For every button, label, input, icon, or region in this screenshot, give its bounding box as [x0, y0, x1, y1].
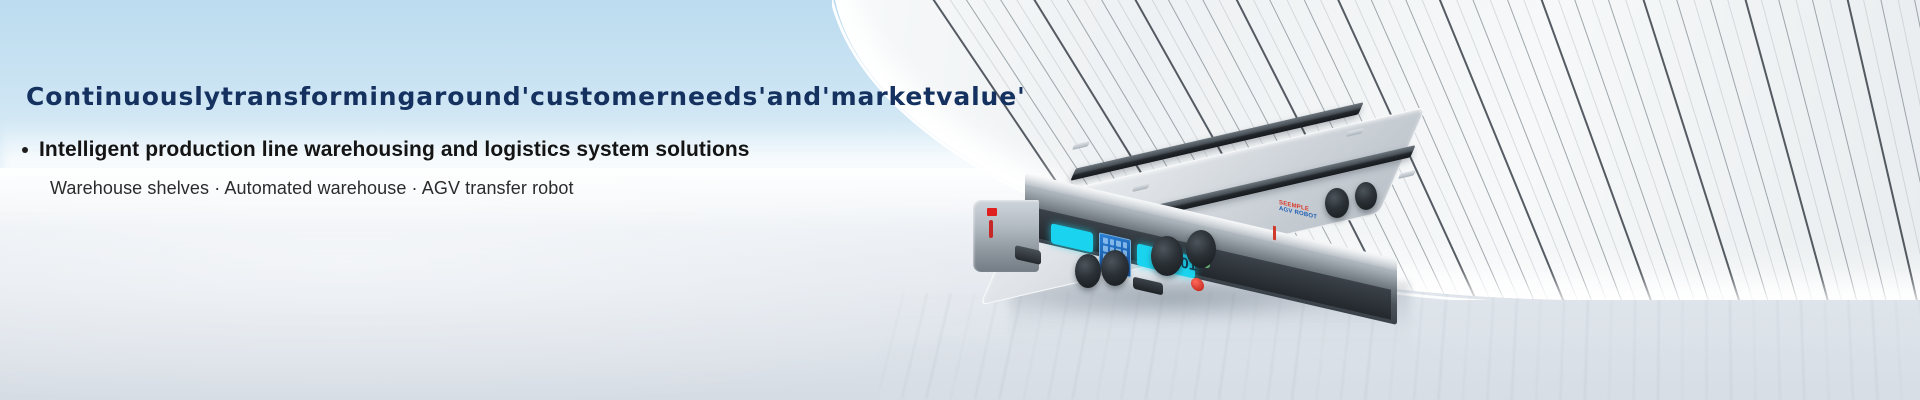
display-cell — [1123, 242, 1128, 249]
bullet-dot-icon — [22, 147, 28, 153]
agv-wheel — [1355, 182, 1377, 210]
agv-wheel — [1325, 188, 1349, 218]
agv-transfer-robot: 01 SEEMPLE AGV ROBOT — [955, 130, 1475, 315]
building-rib — [1684, 0, 1812, 300]
agv-red-strip-icon — [989, 220, 993, 238]
agv-load-bar-cap — [1072, 141, 1090, 150]
building-reflection-rib — [1609, 292, 1613, 400]
building-reflection-rib — [1871, 292, 1878, 400]
feature-bullet-text: Intelligent production line warehousing … — [39, 138, 750, 162]
banner-headline: Continuouslytransformingaround'customern… — [26, 82, 1026, 111]
agv-wheel — [1101, 250, 1129, 286]
building-reflection-rib — [1633, 292, 1636, 400]
agv-wheel — [1186, 230, 1216, 268]
display-cell — [1103, 245, 1108, 252]
display-cell — [1116, 240, 1121, 247]
building-reflection-rib — [1706, 292, 1708, 400]
building-rib — [1579, 0, 1725, 300]
building-reflection-rib — [1560, 292, 1565, 400]
building-rib — [1667, 0, 1798, 300]
banner-subtitle: Warehouse shelves · Automated warehouse … — [50, 178, 574, 199]
building-reflection-rib — [1729, 292, 1731, 400]
agv-red-tab-icon — [987, 208, 997, 216]
building-reflection-rib — [1777, 292, 1781, 400]
building-rib — [1649, 0, 1783, 300]
building-reflection-rib — [1895, 292, 1903, 400]
feature-bullet-row: Intelligent production line warehousing … — [22, 138, 750, 162]
building-reflection-rib — [1584, 292, 1588, 400]
building-reflection-rib — [1824, 292, 1829, 400]
agv-load-bar-cap — [1398, 170, 1416, 179]
building-reflection-rib — [1682, 292, 1683, 400]
building-reflection-rib — [1847, 292, 1853, 400]
display-cell — [1103, 237, 1108, 244]
display-cell — [1110, 239, 1115, 246]
building-rib — [1631, 0, 1768, 300]
agv-wheel — [1075, 254, 1101, 288]
building-rib — [1737, 0, 1856, 300]
building-reflection-rib — [1753, 292, 1756, 400]
building-reflection-rib — [1511, 292, 1518, 400]
agv-mid-bumper — [1133, 277, 1163, 296]
agv-wheel — [1151, 236, 1183, 276]
building-reflection-rib — [1535, 292, 1541, 400]
building-reflection-rib — [1657, 292, 1659, 400]
hero-banner: Continuouslytransformingaround'customern… — [0, 0, 1920, 400]
text-content-block: Continuouslytransformingaround'customern… — [0, 0, 980, 400]
building-reflection-rib — [1487, 292, 1495, 400]
building-reflection-rib — [1800, 292, 1805, 400]
agv-logo-tick — [1273, 226, 1276, 241]
